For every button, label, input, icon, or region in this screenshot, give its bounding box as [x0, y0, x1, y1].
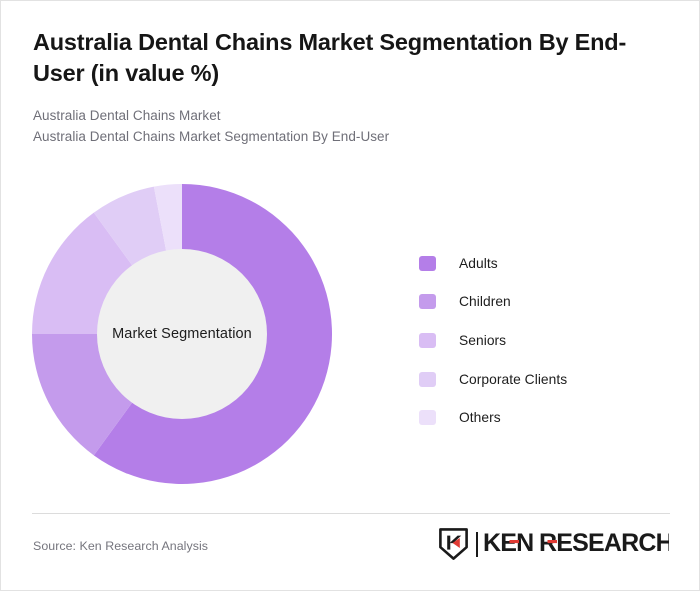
legend-swatch-children: [419, 294, 436, 309]
donut-chart-svg: [32, 184, 332, 484]
footer-divider: [32, 513, 670, 514]
chart-legend: AdultsChildrenSeniorsCorporate ClientsOt…: [419, 244, 567, 437]
chart-header: Australia Dental Chains Market Segmentat…: [33, 27, 669, 147]
legend-item-children[interactable]: Children: [419, 283, 567, 322]
breadcrumb-market: Australia Dental Chains Market: [33, 106, 669, 127]
donut-hole: [97, 249, 267, 419]
page-title: Australia Dental Chains Market Segmentat…: [33, 27, 669, 89]
legend-swatch-adults: [419, 256, 436, 271]
breadcrumb-segmentation: Australia Dental Chains Market Segmentat…: [33, 127, 669, 148]
legend-swatch-corporate-clients: [419, 372, 436, 387]
legend-swatch-others: [419, 410, 436, 425]
ken-research-shield-icon: [438, 527, 469, 561]
legend-label-adults: Adults: [459, 256, 498, 271]
legend-item-corporate-clients[interactable]: Corporate Clients: [419, 360, 567, 399]
brand-divider: [476, 532, 478, 557]
chart-area: Market Segmentation AdultsChildrenSenior…: [1, 169, 700, 507]
brand-word-ken: KEN: [483, 531, 533, 557]
legend-item-seniors[interactable]: Seniors: [419, 321, 567, 360]
legend-label-seniors: Seniors: [459, 333, 506, 348]
source-note: Source: Ken Research Analysis: [33, 539, 208, 553]
legend-label-others: Others: [459, 410, 501, 425]
chart-card: Australia Dental Chains Market Segmentat…: [0, 0, 700, 591]
legend-swatch-seniors: [419, 333, 436, 348]
brand-wordmark: KEN RESEARCH: [483, 531, 669, 557]
subtitle-block: Australia Dental Chains Market Australia…: [33, 106, 669, 147]
brand-word-research: RESEARCH: [539, 531, 669, 557]
legend-label-children: Children: [459, 294, 511, 309]
legend-label-corporate-clients: Corporate Clients: [459, 372, 567, 387]
ken-research-wordmark-icon: KEN RESEARCH: [483, 531, 669, 557]
donut-chart: Market Segmentation: [32, 184, 332, 484]
brand-logo: KEN RESEARCH: [438, 526, 669, 562]
legend-item-others[interactable]: Others: [419, 398, 567, 437]
legend-item-adults[interactable]: Adults: [419, 244, 567, 283]
